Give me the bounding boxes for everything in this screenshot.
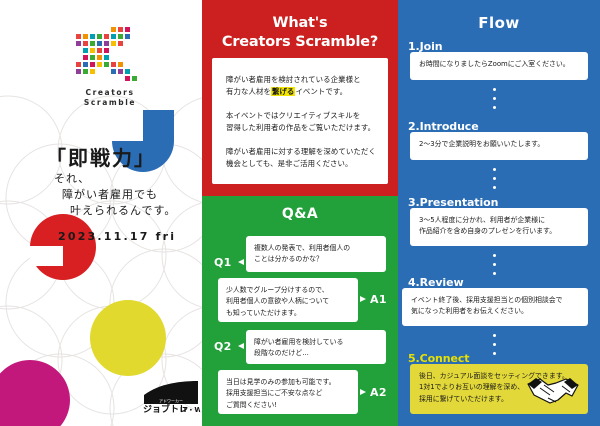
qa-arrow-a1 — [360, 296, 366, 302]
event-date: 2023.11.17 fri — [58, 230, 176, 243]
description-p3-line2: 機会としても、是非ご活用ください。 — [226, 158, 376, 170]
flow-connector-dots-1 — [493, 88, 498, 115]
description-p2-line1: 本イベントではクリエイティブスキルを — [226, 110, 375, 122]
qa-panel-title: Q&A — [202, 206, 398, 222]
subtitle-line-2: 障がい者雇用でも — [62, 186, 158, 202]
qa-label-q2: Q2 — [214, 340, 232, 353]
flow-step-5-label: 5.Connect — [408, 352, 469, 365]
connector-dot — [493, 343, 496, 346]
flow-step-1-line1: お時間になりましたらZoomにご入室ください。 — [419, 59, 579, 70]
poster-root: Creators Scramble 「即戦力」 それ、 障がい者雇用でも 叶えら… — [0, 0, 600, 426]
flow-connector-dots-2 — [493, 168, 498, 195]
flow-step-4-line1: イベント終了後、採用支援担当との個別相談会で — [411, 295, 579, 306]
handshake-icon — [526, 376, 580, 410]
flow-connector-dots-3 — [493, 254, 498, 281]
flow-step-3-label: 3.Presentation — [408, 196, 498, 209]
description-p1-line2-post: イベントです。 — [295, 87, 347, 96]
description-highlight: 繋げる — [271, 87, 295, 96]
qa-arrow-q1 — [238, 259, 244, 265]
description-p1-line2-pre: 有力な人材を — [226, 87, 271, 96]
left-panel: Creators Scramble 「即戦力」 それ、 障がい者雇用でも 叶えら… — [0, 0, 202, 426]
flow-step-1-label: 1.Join — [408, 40, 442, 53]
subtitle-line-1: それ、 — [54, 170, 90, 186]
qa-bubble-a2-line1: 当日は見学のみの参加も可能です。 — [226, 377, 350, 388]
red-panel-title-line1: What's — [202, 14, 398, 33]
qa-label-a1: A1 — [370, 293, 387, 306]
qa-bubble-q1-line2: ことは分かるのかな？ — [254, 254, 378, 265]
connector-dot — [493, 254, 496, 257]
flow-step-1-card: お時間になりましたらZoomにご入室ください。 — [410, 52, 588, 80]
qa-bubble-a1-line2: 利用者個人の意欲や人柄について — [226, 296, 350, 307]
connector-dot — [493, 186, 496, 189]
page-title: 「即戦力」 — [46, 142, 156, 171]
red-panel-title: What's Creators Scramble? — [202, 14, 398, 52]
connector-dot — [493, 263, 496, 266]
connector-dot — [493, 352, 496, 355]
flow-step-4-line2: 気になった利用者をお伝えください。 — [411, 306, 579, 317]
qa-bubble-a1-line3: も知っていただけます。 — [226, 308, 350, 319]
qa-bubble-a2-line3: ご質問ください! — [226, 400, 350, 411]
flow-connector-dots-4 — [493, 334, 498, 361]
logo-wordmark-line2: Scramble — [60, 98, 160, 108]
flow-step-3-card: 3〜5人程度に分かれ、利用者が企業様に 作品紹介を含め自身のプレゼンを行います。 — [410, 208, 588, 246]
flow-step-2-card: 2〜3分で企業説明をお願いいたします。 — [410, 132, 588, 160]
description-p3-line1: 障がい者雇用に対する理解を深めていただく — [226, 146, 376, 158]
green-panel-qa: Q&A Q1 複数人の発表で、利用者個人の ことは分かるのかな？ A1 少人数で… — [202, 196, 398, 426]
svg-text:アドワーカー: アドワーカー — [159, 398, 183, 403]
connector-dot — [493, 106, 496, 109]
qa-label-q1: Q1 — [214, 256, 232, 269]
logo-wordmark-line1: Creators — [60, 88, 160, 98]
description-p2-line2: 習得した利用者の作品をご覧いただけます。 — [226, 122, 375, 134]
red-panel-whats-creators-scramble: What's Creators Scramble? 障がい者雇用を検討されている… — [202, 0, 398, 196]
qa-bubble-q2: 障がい者雇用を検討している 段階なのだけど... — [246, 330, 386, 364]
qa-bubble-a1: 少人数でグループ分けするので、 利用者個人の意欲や人柄について も知っていただけ… — [218, 278, 358, 322]
qa-bubble-a2: 当日は見学のみの参加も可能です。 採用支援担当にご不安な点など ご質問ください! — [218, 370, 358, 414]
logo-wordmark: Creators Scramble — [60, 88, 160, 108]
qa-bubble-q2-line1: 障がい者雇用を検討している — [254, 337, 378, 348]
qa-arrow-a2 — [360, 389, 366, 395]
qa-bubble-q1-line1: 複数人の発表で、利用者個人の — [254, 243, 378, 254]
qa-bubble-a1-line1: 少人数でグループ分けするので、 — [226, 285, 350, 296]
description-p1-line2: 有力な人材を繋げるイベントです。 — [226, 86, 361, 98]
flow-step-4-card: イベント終了後、採用支援担当との個別相談会で 気になった利用者をお伝えください。 — [402, 288, 588, 326]
qa-bubble-q1: 複数人の発表で、利用者個人の ことは分かるのかな？ — [246, 236, 386, 272]
connector-dot — [493, 97, 496, 100]
description-paragraph-2: 本イベントではクリエイティブスキルを 習得した利用者の作品をご覧いただけます。 — [226, 110, 375, 134]
subtitle-line-3: 叶えられるんです。 — [70, 202, 176, 218]
flow-step-5-card: 後日、カジュアル面談をセッティングできます。 1対1でよりお互いの理解を深め、 … — [410, 364, 588, 414]
connector-dot — [493, 272, 496, 275]
description-paragraph-3: 障がい者雇用に対する理解を深めていただく 機会としても、是非ご活用ください。 — [226, 146, 376, 170]
blue-panel-flow: Flow 1.Join お時間になりましたらZoomにご入室ください。 2.In… — [398, 0, 600, 426]
svg-text:IT・Web: IT・Web — [180, 406, 200, 413]
qa-bubble-q2-line2: 段階なのだけど... — [254, 348, 378, 359]
flow-panel-title: Flow — [398, 14, 600, 32]
description-paragraph-1: 障がい者雇用を検討されている企業様と 有力な人材を繋げるイベントです。 — [226, 74, 361, 98]
connector-dot — [493, 177, 496, 180]
red-panel-description-card: 障がい者雇用を検討されている企業様と 有力な人材を繋げるイベントです。 本イベン… — [212, 58, 388, 184]
connector-dot — [493, 168, 496, 171]
qa-bubble-a2-line2: 採用支援担当にご不安な点など — [226, 388, 350, 399]
description-p1-line1: 障がい者雇用を検討されている企業様と — [226, 74, 361, 86]
red-panel-title-line2: Creators Scramble? — [202, 33, 398, 52]
qa-arrow-q2 — [238, 343, 244, 349]
flow-step-2-label: 2.Introduce — [408, 120, 479, 133]
jobtore-it-web-logo: アドワーカー ジョブトレ IT・Web — [142, 381, 200, 413]
creators-scramble-x-icon — [72, 24, 144, 86]
flow-step-2-line1: 2〜3分で企業説明をお願いいたします。 — [419, 139, 579, 150]
connector-dot — [493, 334, 496, 337]
flow-step-3-line1: 3〜5人程度に分かれ、利用者が企業様に — [419, 215, 579, 226]
flow-step-3-line2: 作品紹介を含め自身のプレゼンを行います。 — [419, 226, 579, 237]
qa-label-a2: A2 — [370, 386, 387, 399]
flow-step-4-label: 4.Review — [408, 276, 464, 289]
connector-dot — [493, 88, 496, 91]
